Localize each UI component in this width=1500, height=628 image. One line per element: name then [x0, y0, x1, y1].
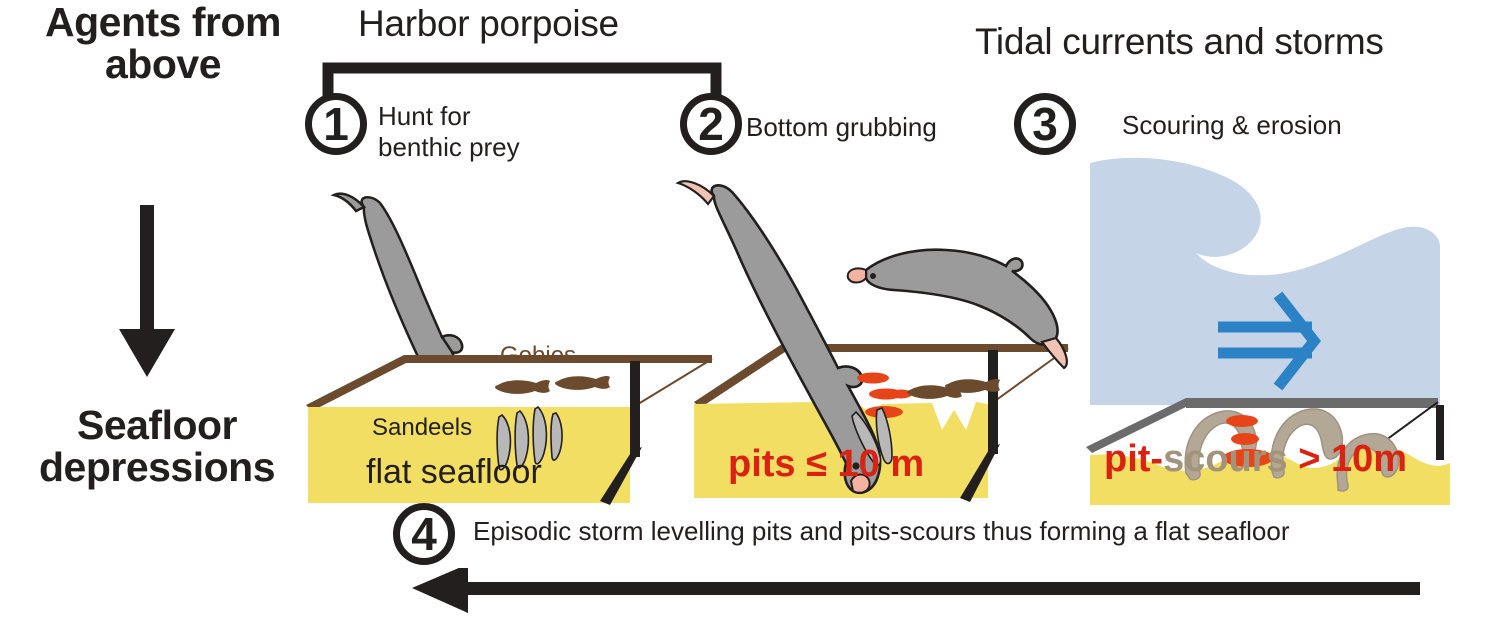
group-heading-porpoise: Harbor porpoise [358, 3, 619, 45]
panel-3-caption: pit-scours > 10m [1104, 438, 1407, 480]
sandeels-label: Sandeels [372, 414, 472, 441]
step-badge-1: 1 [305, 93, 367, 155]
step-badge-4: 4 [393, 503, 455, 565]
porpoise-eye [870, 273, 876, 279]
caption-part-scours: scours [1163, 438, 1288, 480]
step-label-4: Episodic storm levelling pits and pits-s… [473, 516, 1289, 547]
figure-canvas: Agents from above Seafloor depressions H… [0, 0, 1500, 628]
step-badge-2: 2 [680, 93, 742, 155]
block-right-edge [630, 361, 640, 457]
left-arrow-icon [410, 568, 1420, 621]
group-heading-tidal: Tidal currents and storms [975, 21, 1384, 63]
step-label-2: Bottom grubbing [746, 112, 937, 143]
panel-2-caption: pits ≤ 10 m [728, 443, 924, 485]
seafloor-depressions-label: Seafloor depressions [0, 405, 322, 489]
agents-from-above-label: Agents from above [38, 2, 288, 86]
breaking-wave [1090, 158, 1440, 405]
step-badge-3: 3 [1014, 93, 1076, 155]
caption-part-threshold: > 10m [1288, 438, 1407, 480]
step-label-1: Hunt for benthic prey [378, 101, 520, 162]
block-right-edge [988, 350, 998, 454]
gobies-label: Gobies [500, 342, 576, 369]
block-right-edge [1436, 405, 1444, 460]
down-arrow-icon [108, 205, 188, 395]
scene-panel-pits: pits ≤ 10 m [670, 178, 1090, 498]
caption-part-pit: pit- [1104, 438, 1163, 480]
panel-1-caption: flat seafloor [366, 453, 542, 491]
scene-panel-flat-seafloor: Sandeels Gobies flat seafloor [300, 185, 720, 505]
step-label-3: Scouring & erosion [1122, 110, 1342, 141]
scene-panel-pit-scours: pit-scours > 10m [1090, 155, 1500, 475]
seabed-line [1186, 398, 1438, 408]
